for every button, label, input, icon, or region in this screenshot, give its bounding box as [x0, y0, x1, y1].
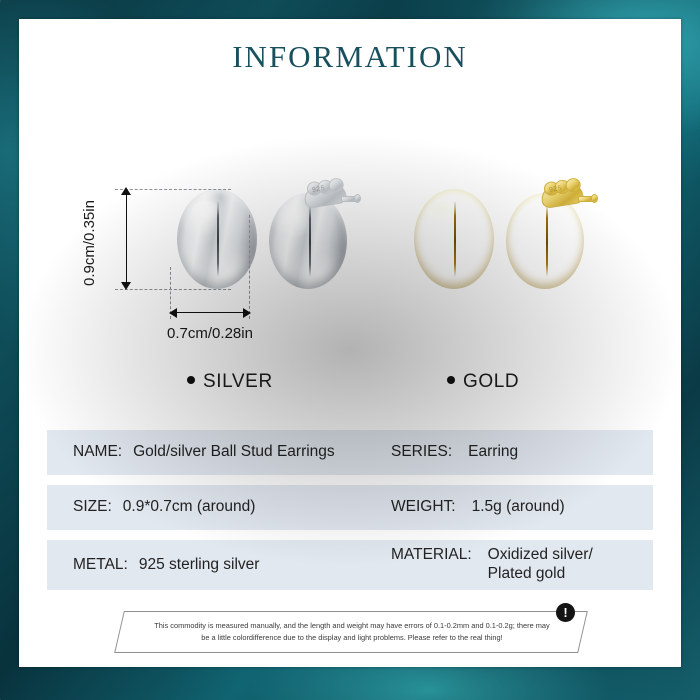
bullet-icon	[187, 376, 195, 384]
spec-value: Earring	[468, 443, 518, 462]
caption-silver: SILVER	[187, 371, 273, 393]
table-row: SIZE: 0.9*0.7cm (around) WEIGHT: 1.5g (a…	[47, 485, 653, 530]
width-arrow-shaft	[172, 312, 248, 313]
disclaimer-line-1: This commodity is measured manually, and…	[154, 621, 515, 630]
butterfly-clasp	[539, 180, 584, 209]
gold-earring-front	[414, 189, 494, 289]
caption-gold: GOLD	[447, 371, 519, 393]
warning-icon: !	[556, 603, 575, 622]
spec-value: 925 sterling silver	[139, 556, 260, 575]
white-card: INFORMATION 925	[19, 19, 681, 667]
spec-key: NAME:	[73, 443, 122, 461]
product-info-page: INFORMATION 925	[0, 0, 700, 700]
caption-gold-label: GOLD	[463, 371, 519, 392]
width-arrow-head-right	[243, 308, 251, 318]
seam-highlight	[309, 205, 311, 277]
width-dimension-label: 0.7cm/0.28in	[135, 325, 285, 342]
spec-value: 0.9*0.7cm (around)	[123, 498, 256, 517]
disclaimer-text: This commodity is measured manually, and…	[151, 620, 553, 644]
guide-line-top	[115, 189, 231, 190]
spec-value: Oxidized silver/ Plated gold	[488, 546, 593, 584]
table-row: METAL: 925 sterling silver MATERIAL: Oxi…	[47, 540, 653, 590]
post-tip	[354, 194, 361, 203]
spec-key: SERIES:	[391, 443, 452, 461]
height-arrow-shaft	[126, 191, 127, 287]
spec-cell: SIZE: 0.9*0.7cm (around)	[73, 498, 391, 517]
caption-silver-label: SILVER	[203, 371, 273, 392]
guide-line-right	[249, 215, 250, 319]
spec-cell: SERIES: Earring	[391, 443, 653, 462]
gold-earring-back-view	[506, 193, 584, 289]
spec-key: MATERIAL:	[391, 546, 472, 564]
bullet-icon	[447, 376, 455, 384]
disclaimer-banner: This commodity is measured manually, and…	[119, 611, 583, 653]
spec-key: SIZE:	[73, 498, 112, 516]
spec-value: Gold/silver Ball Stud Earrings	[133, 443, 335, 462]
height-arrow-head-top	[121, 187, 131, 195]
post-tip	[591, 194, 598, 203]
spec-cell: MATERIAL: Oxidized silver/ Plated gold	[391, 546, 653, 584]
height-dimension-label: 0.9cm/0.35in	[81, 187, 98, 299]
page-title: INFORMATION	[19, 39, 681, 75]
width-arrow-head-left	[169, 308, 177, 318]
seam-highlight	[217, 201, 219, 277]
specular-highlight	[428, 201, 458, 223]
specular-highlight	[191, 201, 221, 223]
spec-cell: WEIGHT: 1.5g (around)	[391, 498, 653, 517]
silver-earring-front	[177, 189, 257, 289]
guide-line-bottom	[115, 289, 231, 290]
silver-earring-back-view	[269, 193, 347, 289]
seam-highlight	[546, 205, 548, 277]
spec-key: METAL:	[73, 556, 128, 574]
spec-cell: NAME: Gold/silver Ball Stud Earrings	[73, 443, 391, 462]
spec-cell: METAL: 925 sterling silver	[73, 556, 391, 575]
height-arrow-head-bottom	[121, 282, 131, 290]
seam-highlight	[454, 201, 456, 277]
spec-table: NAME: Gold/silver Ball Stud Earrings SER…	[47, 430, 653, 600]
spec-key: WEIGHT:	[391, 498, 456, 516]
butterfly-clasp	[302, 180, 347, 209]
spec-value: 1.5g (around)	[472, 498, 565, 517]
table-row: NAME: Gold/silver Ball Stud Earrings SER…	[47, 430, 653, 475]
